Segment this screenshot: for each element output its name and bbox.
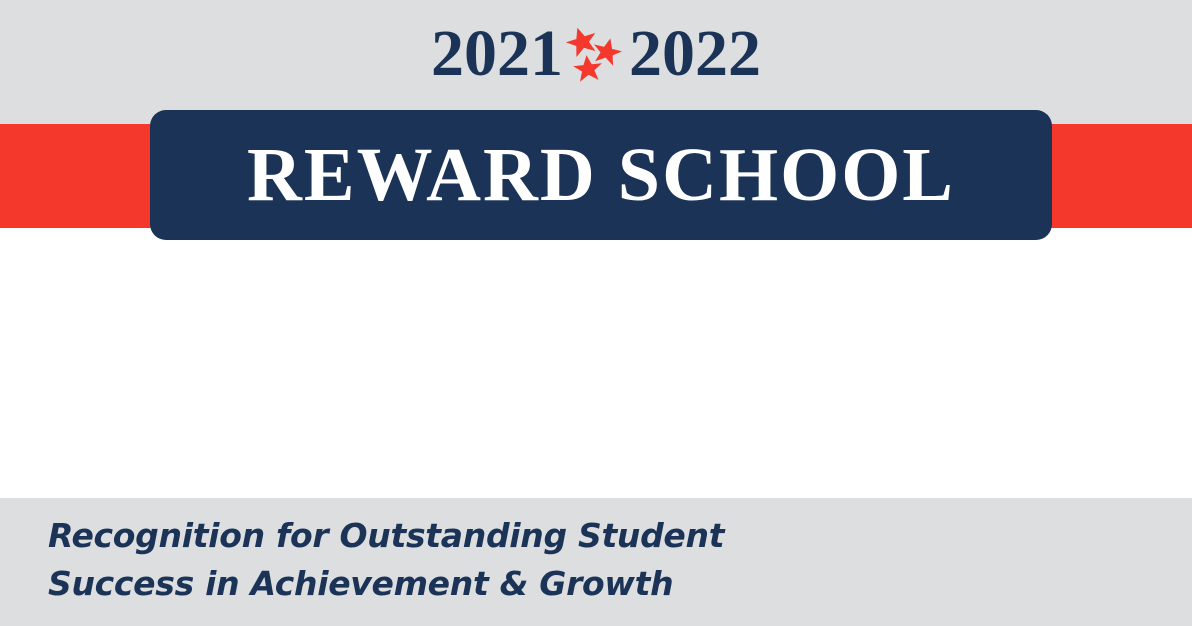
tagline: Recognition for Outstanding Student Succ… — [48, 512, 748, 608]
red-accent-bar-left — [0, 124, 152, 228]
footer-band: Recognition for Outstanding Student Succ… — [0, 498, 1192, 626]
reward-school-certificate: 2021 2022 REWARD SCHOOL — [0, 0, 1192, 626]
certificate-body — [0, 240, 1192, 498]
award-title: REWARD SCHOOL — [247, 137, 955, 213]
red-accent-bar-right — [1050, 124, 1192, 228]
tagline-line-1: Recognition for Outstanding Student — [48, 512, 748, 560]
year-start-label: 2021 — [431, 21, 563, 87]
year-end-label: 2022 — [629, 21, 761, 87]
award-banner: REWARD SCHOOL — [150, 110, 1052, 240]
tagline-line-2: Success in Achievement & Growth — [48, 560, 748, 608]
tennessee-tristar-icon — [565, 26, 627, 88]
academic-year-row: 2021 2022 — [0, 0, 1192, 108]
header-band: 2021 2022 — [0, 0, 1192, 124]
